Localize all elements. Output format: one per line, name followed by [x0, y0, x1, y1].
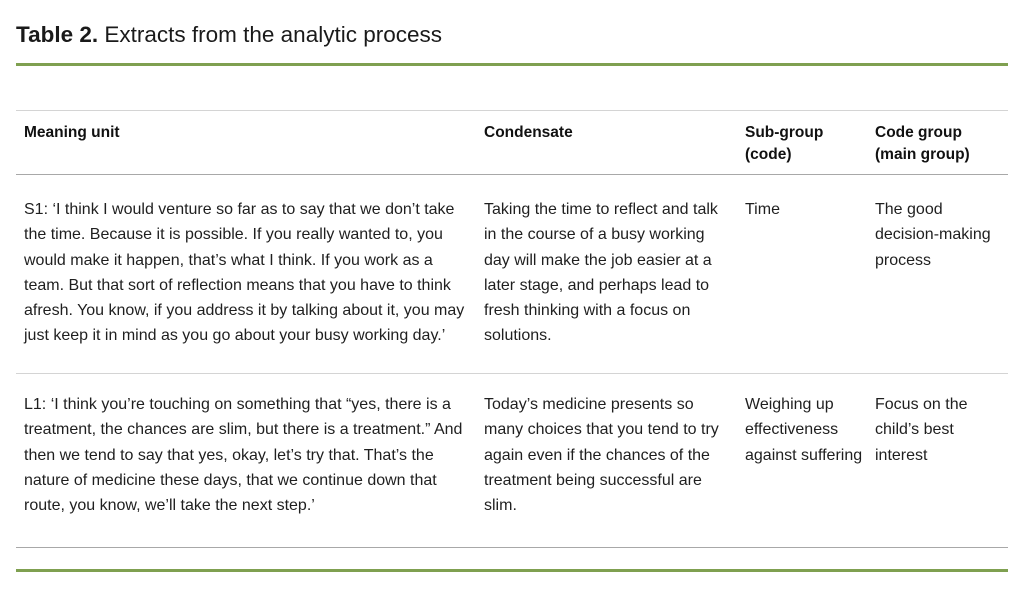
- caption-accent-rule: [16, 63, 1008, 66]
- column-header-sub-group-line1: Sub-group: [745, 122, 867, 144]
- cell-sub-group: Time: [745, 197, 867, 222]
- table-caption-text: Extracts from the analytic process: [98, 22, 442, 47]
- table-figure: Table 2. Extracts from the analytic proc…: [0, 0, 1024, 609]
- cell-code-group: Focus on the child’s best interest: [875, 392, 1010, 468]
- column-header-condensate-label: Condensate: [484, 122, 732, 144]
- cell-sub-group: Weighing up effectiveness against suffer…: [745, 392, 867, 468]
- column-header-sub-group-line2: (code): [745, 144, 867, 166]
- table-accent-rule-bottom: [16, 569, 1008, 572]
- column-header-code-group-line2: (main group): [875, 144, 1010, 166]
- header-bottom-rule: [16, 174, 1008, 175]
- table-caption: Table 2. Extracts from the analytic proc…: [16, 20, 1008, 50]
- table-top-rule: [16, 110, 1008, 111]
- column-header-sub-group: Sub-group (code): [745, 122, 867, 166]
- table-bottom-rule: [16, 547, 1008, 548]
- column-header-meaning-unit: Meaning unit: [24, 122, 470, 144]
- cell-meaning-unit: L1: ‘I think you’re touching on somethin…: [24, 392, 470, 518]
- column-header-condensate: Condensate: [484, 122, 732, 144]
- row-separator-rule: [16, 373, 1008, 374]
- cell-meaning-unit: S1: ‘I think I would venture so far as t…: [24, 197, 470, 349]
- table-caption-label: Table 2.: [16, 22, 98, 47]
- column-header-code-group-line1: Code group: [875, 122, 1010, 144]
- column-header-meaning-unit-label: Meaning unit: [24, 122, 470, 144]
- cell-condensate: Today’s medicine presents so many choice…: [484, 392, 732, 518]
- cell-code-group: The good decision-making process: [875, 197, 1010, 273]
- cell-condensate: Taking the time to reflect and talk in t…: [484, 197, 732, 349]
- column-header-code-group: Code group (main group): [875, 122, 1010, 166]
